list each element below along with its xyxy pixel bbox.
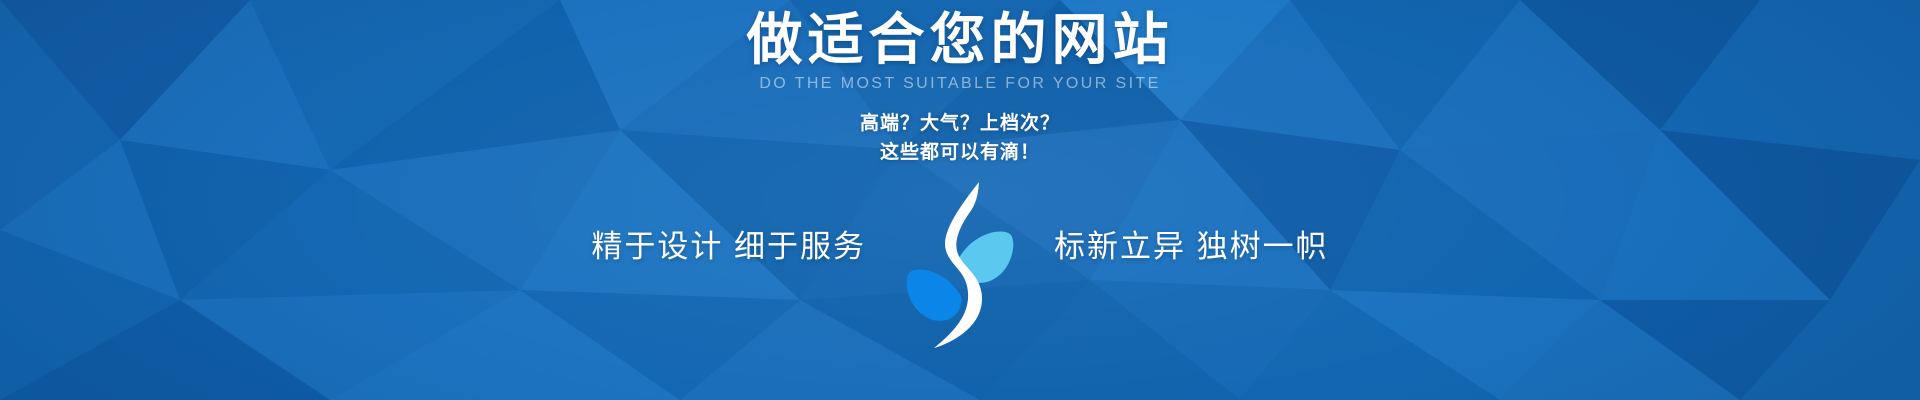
tagline-line-1: 高端？大气？上档次？ (860, 109, 1060, 138)
tagline-line-2: 这些都可以有滴！ (860, 138, 1060, 167)
hero-banner: 做适合您的网站 DO THE MOST SUITABLE FOR YOUR SI… (0, 0, 1920, 400)
banner-subtitle-english: DO THE MOST SUITABLE FOR YOUR SITE (759, 74, 1160, 93)
slogan-row: 精于设计 细于服务 标新立异 独树一帜 (0, 228, 1920, 353)
logo-leaf-lower (907, 269, 962, 320)
banner-title: 做适合您的网站 (747, 8, 1174, 72)
leaf-sprout-logo-icon (900, 178, 1020, 353)
slogan-left: 精于设计 细于服务 (570, 228, 900, 265)
slogan-right: 标新立异 独树一帜 (1020, 228, 1350, 265)
banner-taglines: 高端？大气？上档次？ 这些都可以有滴！ (860, 109, 1060, 168)
